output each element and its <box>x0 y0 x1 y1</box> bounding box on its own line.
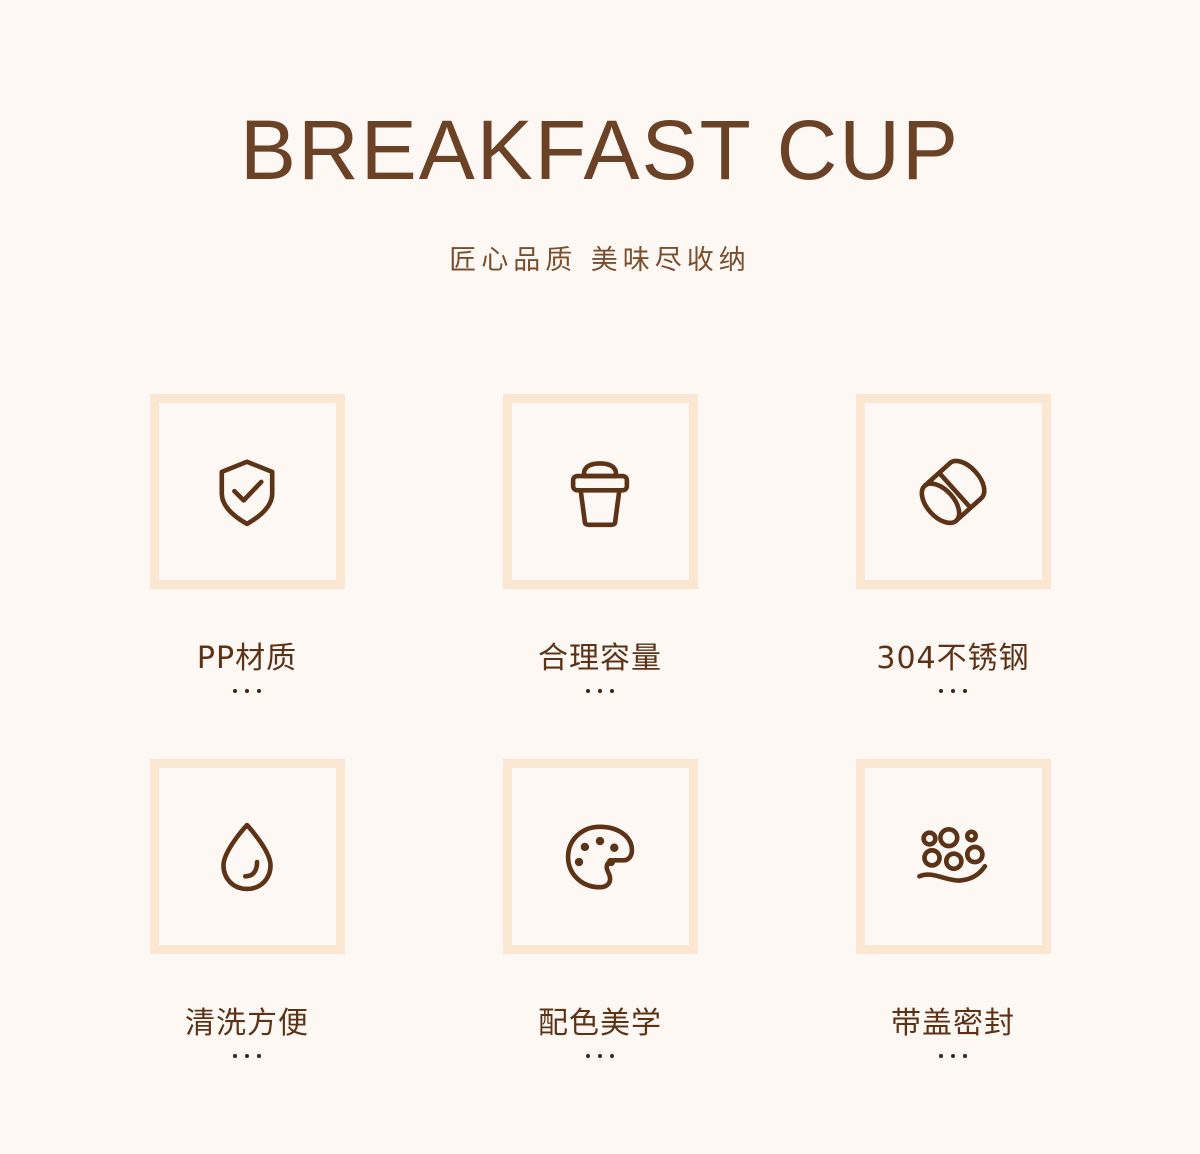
feature-grid: PP材质 合理容量 <box>0 394 1200 1124</box>
feature-label: PP材质 <box>197 633 297 677</box>
dot <box>939 689 943 693</box>
icon-frame <box>503 394 698 589</box>
dots-indicator <box>939 689 967 693</box>
icon-frame <box>856 394 1051 589</box>
dots-indicator <box>586 689 614 693</box>
icon-frame <box>150 394 345 589</box>
steel-cylinder-icon <box>911 450 995 534</box>
feature-label: 带盖密封 <box>891 998 1015 1042</box>
feature-item[interactable]: PP材质 <box>150 394 345 759</box>
feature-item[interactable]: 清洗方便 <box>150 759 345 1124</box>
feature-item[interactable]: 配色美学 <box>503 759 698 1124</box>
dot <box>610 1054 614 1058</box>
dot <box>245 689 249 693</box>
icon-frame <box>503 759 698 954</box>
dot <box>951 689 955 693</box>
page-title: BREAKFAST CUP <box>0 108 1200 192</box>
feature-item[interactable]: 合理容量 <box>503 394 698 759</box>
dot <box>233 1054 237 1058</box>
page-subtitle: 匠心品质 美味尽收纳 <box>0 238 1200 277</box>
dot <box>257 689 261 693</box>
bubbles-seal-icon <box>911 815 995 899</box>
water-droplet-icon <box>205 815 289 899</box>
product-feature-page: BREAKFAST CUP 匠心品质 美味尽收纳 PP材质 <box>0 0 1200 1154</box>
page-header: BREAKFAST CUP 匠心品质 美味尽收纳 <box>0 0 1200 277</box>
dot <box>610 689 614 693</box>
dot <box>963 689 967 693</box>
feature-label: 清洗方便 <box>185 998 309 1042</box>
feature-item[interactable]: 304不锈钢 <box>856 394 1051 759</box>
dot <box>963 1054 967 1058</box>
feature-label: 配色美学 <box>538 998 662 1042</box>
dot <box>586 689 590 693</box>
dot <box>939 1054 943 1058</box>
icon-frame <box>150 759 345 954</box>
dot <box>951 1054 955 1058</box>
dot <box>598 689 602 693</box>
shield-check-icon <box>205 450 289 534</box>
dot <box>245 1054 249 1058</box>
paint-palette-icon <box>558 815 642 899</box>
dot <box>586 1054 590 1058</box>
coffee-cup-icon <box>558 450 642 534</box>
dots-indicator <box>233 1054 261 1058</box>
dot <box>233 689 237 693</box>
dot <box>598 1054 602 1058</box>
icon-frame <box>856 759 1051 954</box>
dots-indicator <box>939 1054 967 1058</box>
dot <box>257 1054 261 1058</box>
feature-item[interactable]: 带盖密封 <box>856 759 1051 1124</box>
dots-indicator <box>586 1054 614 1058</box>
dots-indicator <box>233 689 261 693</box>
feature-label: 合理容量 <box>538 633 662 677</box>
feature-label: 304不锈钢 <box>876 633 1029 677</box>
